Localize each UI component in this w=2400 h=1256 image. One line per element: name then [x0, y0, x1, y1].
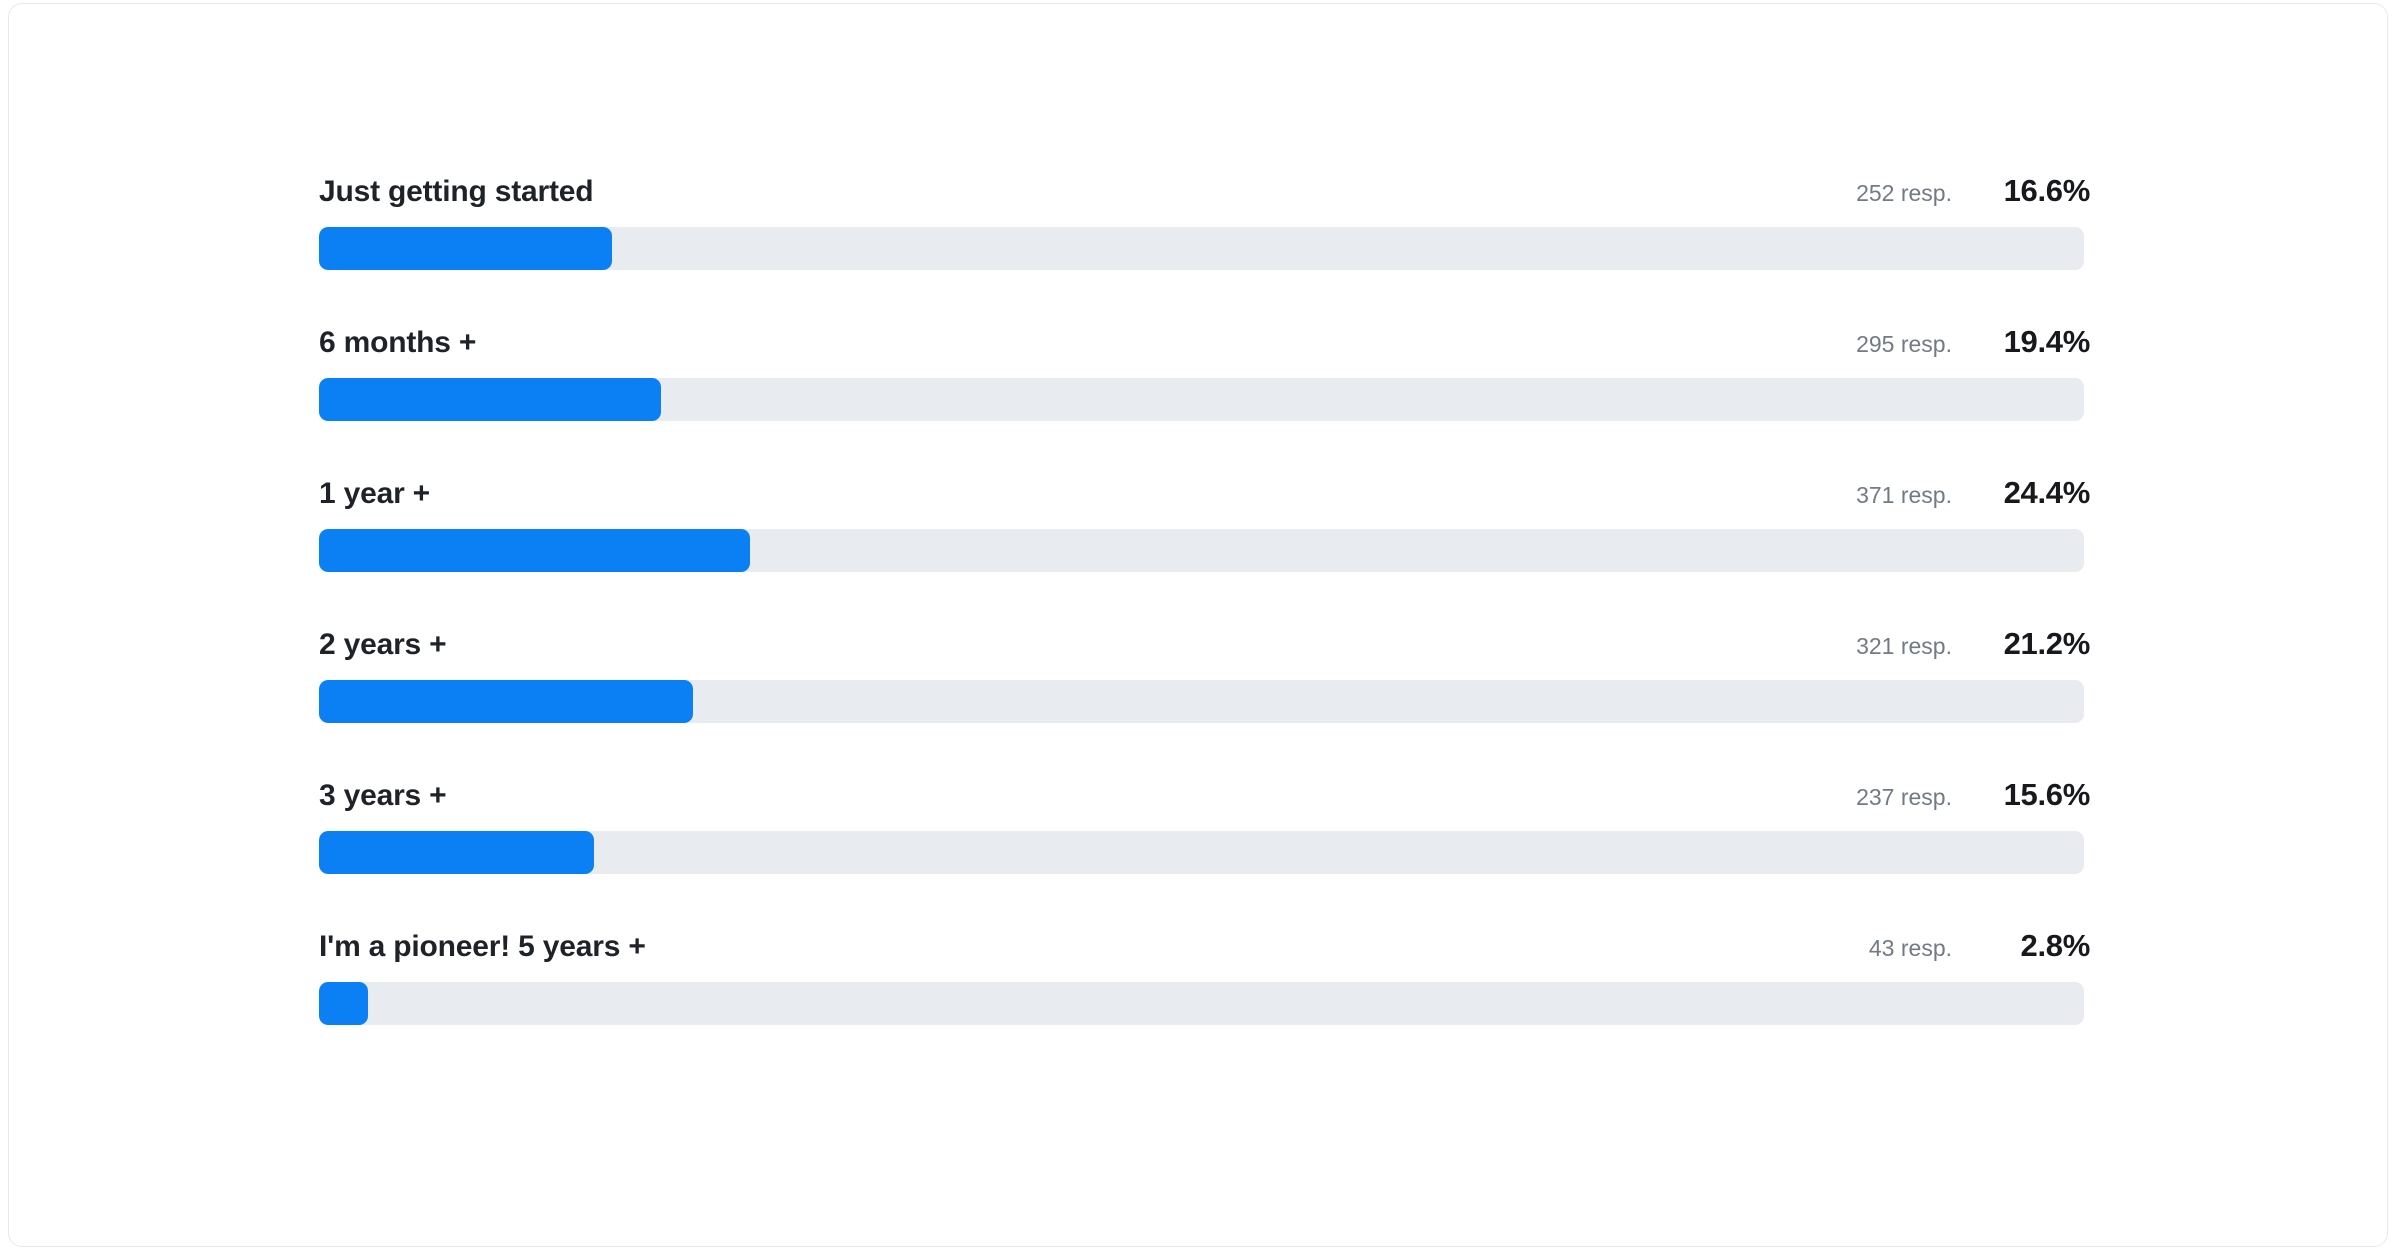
poll-results-card: Just getting started 252 resp. 16.6% 6 m… [8, 3, 2388, 1247]
poll-row-stats: 43 resp. 2.8% [1869, 926, 2090, 968]
poll-option-label: 6 months + [319, 323, 476, 363]
poll-result-row[interactable]: Just getting started 252 resp. 16.6% [319, 171, 2091, 270]
poll-row-header: 1 year + 371 resp. 24.4% [319, 473, 2091, 513]
poll-percent-value: 2.8% [1978, 926, 2090, 966]
poll-row-header: I'm a pioneer! 5 years + 43 resp. 2.8% [319, 926, 2091, 966]
poll-percent-value: 21.2% [1978, 624, 2090, 664]
poll-bar-fill [319, 982, 368, 1025]
poll-row-header: 2 years + 321 resp. 21.2% [319, 624, 2091, 664]
poll-row-header: 3 years + 237 resp. 15.6% [319, 775, 2091, 815]
poll-result-row[interactable]: 2 years + 321 resp. 21.2% [319, 624, 2091, 723]
poll-row-header: Just getting started 252 resp. 16.6% [319, 171, 2091, 211]
poll-row-header: 6 months + 295 resp. 19.4% [319, 322, 2091, 362]
poll-bar-fill [319, 680, 693, 723]
poll-response-count: 43 resp. [1869, 928, 1952, 968]
poll-row-stats: 321 resp. 21.2% [1856, 624, 2090, 666]
poll-results-list: Just getting started 252 resp. 16.6% 6 m… [319, 171, 2091, 1025]
poll-bar-track [319, 680, 2084, 723]
poll-response-count: 321 resp. [1856, 626, 1952, 666]
poll-bar-track [319, 529, 2084, 572]
poll-row-stats: 237 resp. 15.6% [1856, 775, 2090, 817]
poll-result-row[interactable]: 1 year + 371 resp. 24.4% [319, 473, 2091, 572]
poll-response-count: 295 resp. [1856, 324, 1952, 364]
poll-option-label: I'm a pioneer! 5 years + [319, 927, 646, 967]
poll-bar-fill [319, 378, 661, 421]
poll-row-stats: 371 resp. 24.4% [1856, 473, 2090, 515]
poll-response-count: 237 resp. [1856, 777, 1952, 817]
poll-option-label: 2 years + [319, 625, 447, 665]
poll-bar-track [319, 831, 2084, 874]
poll-bar-fill [319, 227, 612, 270]
poll-row-stats: 295 resp. 19.4% [1856, 322, 2090, 364]
poll-percent-value: 24.4% [1978, 473, 2090, 513]
poll-option-label: 1 year + [319, 474, 430, 514]
poll-result-row[interactable]: 3 years + 237 resp. 15.6% [319, 775, 2091, 874]
poll-response-count: 371 resp. [1856, 475, 1952, 515]
poll-percent-value: 15.6% [1978, 775, 2090, 815]
poll-percent-value: 19.4% [1978, 322, 2090, 362]
poll-result-row[interactable]: 6 months + 295 resp. 19.4% [319, 322, 2091, 421]
poll-percent-value: 16.6% [1978, 171, 2090, 211]
poll-bar-track [319, 378, 2084, 421]
poll-row-stats: 252 resp. 16.6% [1856, 171, 2090, 213]
poll-bar-track [319, 227, 2084, 270]
poll-bar-track [319, 982, 2084, 1025]
poll-result-row[interactable]: I'm a pioneer! 5 years + 43 resp. 2.8% [319, 926, 2091, 1025]
poll-bar-fill [319, 529, 750, 572]
poll-bar-fill [319, 831, 594, 874]
poll-option-label: 3 years + [319, 776, 447, 816]
poll-response-count: 252 resp. [1856, 173, 1952, 213]
poll-option-label: Just getting started [319, 172, 593, 212]
